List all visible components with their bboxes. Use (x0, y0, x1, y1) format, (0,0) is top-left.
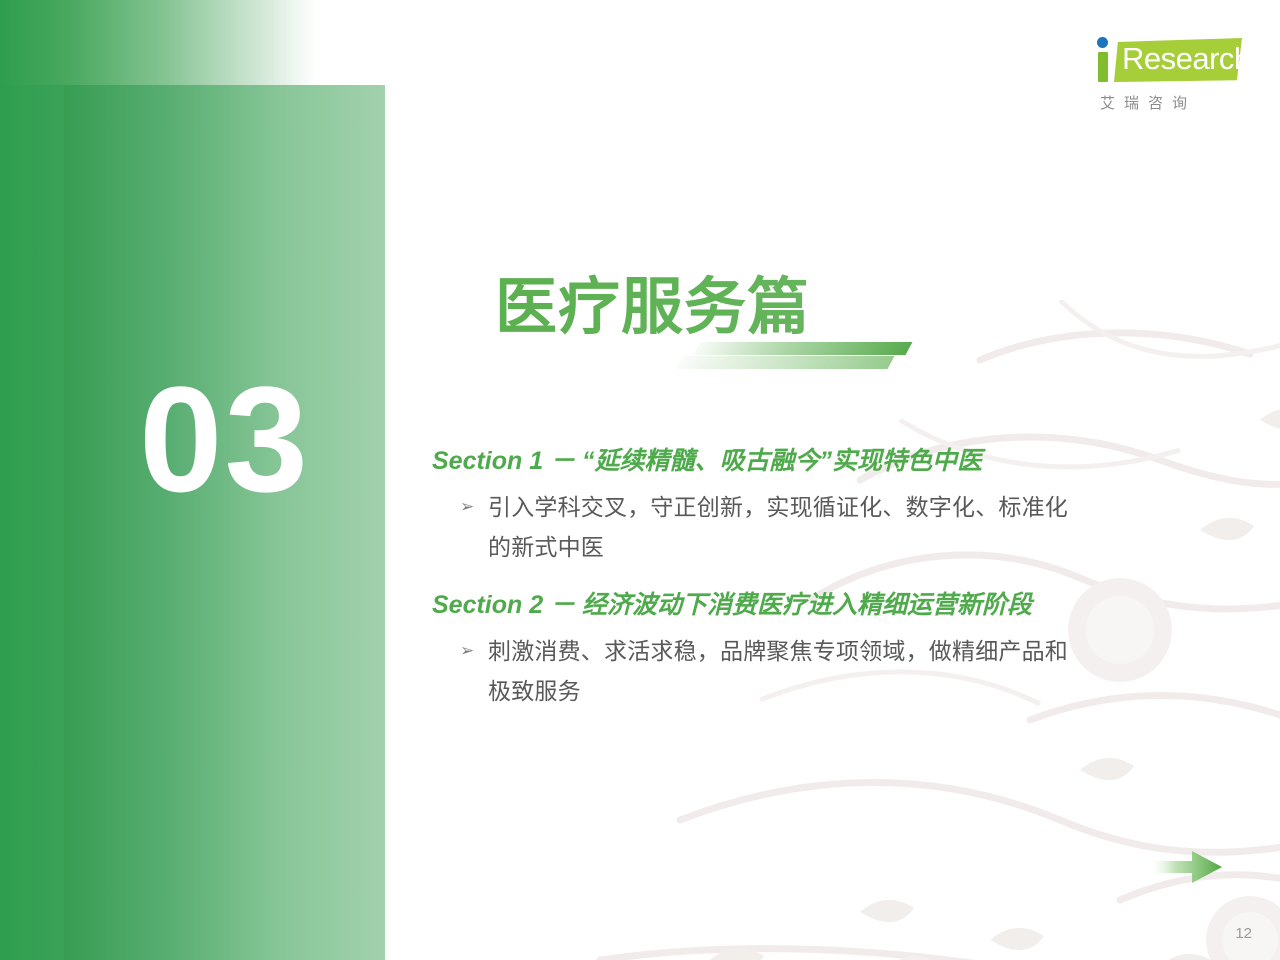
logo-chinese-name: 艾瑞咨询 (1094, 92, 1246, 113)
bullet-arrow-icon: ➢ (460, 631, 488, 671)
title-block: 医疗服务篇 (495, 272, 1115, 344)
left-green-strip (0, 85, 64, 960)
page-number: 12 (1235, 925, 1252, 942)
section-item-2: Section 2 － 经济波动下消费医疗进入精细运营新阶段 ➢ 刺激消费、求活… (432, 587, 1132, 711)
section-2-heading: Section 2 － 经济波动下消费医疗进入精细运营新阶段 (432, 587, 1132, 623)
logo-mark: Research (1094, 34, 1246, 86)
title-underline-decoration (673, 342, 913, 378)
logo-i-stem (1098, 52, 1108, 82)
section-2-bullet-row: ➢ 刺激消费、求活求稳，品牌聚焦专项领域，做精细产品和极致服务 (460, 631, 1132, 711)
page-title: 医疗服务篇 (495, 272, 1115, 344)
section-1-bullet-text: 引入学科交叉，守正创新，实现循证化、数字化、标准化的新式中医 (488, 487, 1088, 567)
iresearch-logo: Research 艾瑞咨询 (1094, 34, 1246, 116)
section-1-bullet-row: ➢ 引入学科交叉，守正创新，实现循证化、数字化、标准化的新式中医 (460, 487, 1132, 567)
logo-i-dot-icon (1097, 37, 1108, 48)
section-item-1: Section 1 － “延续精髓、吸古融今”实现特色中医 ➢ 引入学科交叉，守… (432, 443, 1132, 567)
next-arrow-icon[interactable] (1150, 850, 1222, 884)
title-deco-bar-bottom (676, 356, 895, 369)
top-gradient-bar (0, 0, 316, 85)
slide-canvas: 03 Research 艾瑞咨询 医疗服务篇 Section 1 － “延续精髓… (0, 0, 1280, 960)
section-list: Section 1 － “延续精髓、吸古融今”实现特色中医 ➢ 引入学科交叉，守… (432, 443, 1132, 731)
bullet-arrow-icon: ➢ (460, 487, 488, 527)
section-number: 03 (64, 364, 385, 514)
logo-wordmark: Research (1122, 41, 1240, 77)
section-2-bullet-text: 刺激消费、求活求稳，品牌聚焦专项领域，做精细产品和极致服务 (488, 631, 1088, 711)
title-deco-bar-top (694, 342, 913, 355)
section-1-heading: Section 1 － “延续精髓、吸古融今”实现特色中医 (432, 443, 1132, 479)
